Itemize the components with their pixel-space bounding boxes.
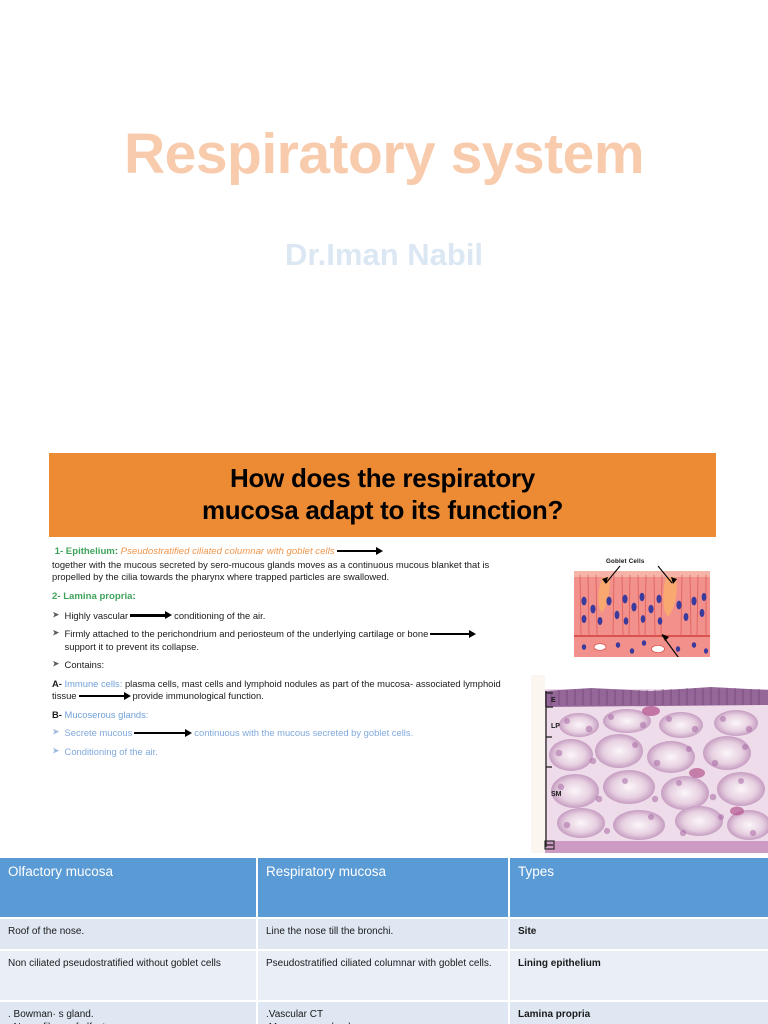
bullet-4-body: Secrete mucouscontinuous with the mucous… [65,727,504,740]
cell-type-lamina: Lamina propria [510,1002,768,1024]
cell-olfactory-site: Roof of the nose. [0,919,258,949]
respiratory-mucosa-micrograph: E LP SM [531,675,768,853]
list-item: ➤ Contains: [52,659,504,672]
arrowhead-bullet-icon: ➤ [52,628,60,640]
arrowhead-bullet-icon: ➤ [52,609,60,621]
arrow-icon [337,547,383,555]
epithelium-body-text: together with the mucous secreted by ser… [52,559,504,584]
table-row: Roof of the nose. Line the nose till the… [0,917,768,949]
list-item: ➤ Conditioning of the air. [52,746,504,759]
bullet-1-body: Highly vascularconditioning of the air. [65,610,504,623]
item-b-line: B- Mucoserous glands: [52,709,504,722]
list-item: ➤ Highly vascularconditioning of the air… [52,610,504,623]
bullet-4-pre: Secrete mucous [65,727,133,738]
bullet-2-body: Firmly attached to the perichondrium and… [65,628,504,653]
item-a-body-post: provide immunological function. [133,690,264,701]
micrograph-image [531,675,768,853]
arrow-icon [130,611,172,619]
table-header-row: Olfactory mucosa Respiratory mucosa Type… [0,858,768,917]
item-a-line: A- Immune cells: plasma cells, mast cell… [52,678,504,703]
table-row: . Bowman· s gland. . Nerve fibers of olf… [0,1000,768,1024]
item-a-prefix: A- [52,678,62,689]
bullet-4-post: continuous with the mucous secreted by g… [194,727,413,738]
goblet-cells-diagram: Goblet Cells [566,557,720,669]
table-header-respiratory: Respiratory mucosa [258,858,510,917]
page-subtitle: Dr.Iman Nabil [0,237,768,273]
bullet-2-post: support it to prevent its collapse. [65,641,199,652]
epithelium-colon: : [115,546,118,557]
epithelium-label: 1- Epithelium [55,546,115,557]
arrowhead-bullet-icon: ➤ [52,727,60,739]
lamina-propria-label: 2- Lamina propria [52,591,133,602]
cell-respiratory-epithelium: Pseudostratified ciliated columnar with … [258,951,510,1000]
lamina-propria-colon: : [133,591,136,602]
arrow-icon [79,692,131,700]
question-line-2: mucosa adapt to its function? [202,495,563,525]
arrowhead-bullet-icon: ➤ [52,659,60,671]
bullet-5-body: Conditioning of the air. [65,746,504,759]
slide-body-text: 1- Epithelium: Pseudostratified ciliated… [52,545,504,758]
item-a-blue-label: Immune cells: [65,678,123,689]
list-item: ➤ Secrete mucouscontinuous with the muco… [52,727,504,740]
micrograph-label-sm: SM [551,791,562,798]
goblet-cells-illustration [566,557,720,669]
bullet-2-pre: Firmly attached to the perichondrium and… [65,628,429,639]
question-banner: How does the respiratory mucosa adapt to… [49,453,716,537]
table-header-olfactory: Olfactory mucosa [0,858,258,917]
arrow-icon [430,630,476,638]
epithelium-italic-text: Pseudostratified ciliated columnar with … [121,546,335,557]
cell-type-epithelium: Lining epithelium [510,951,768,1000]
arrow-icon [134,729,192,737]
title-block: Respiratory system Dr.Iman Nabil [0,125,768,273]
embedded-slide-image: How does the respiratory mucosa adapt to… [0,453,768,853]
cell-olfactory-lamina: . Bowman· s gland. . Nerve fibers of olf… [0,1002,258,1024]
micrograph-label-lp: LP [551,723,560,730]
item-b-prefix: B- [52,709,62,720]
item-b-blue-label: Mucoserous glands: [65,709,149,720]
cell-type-site: Site [510,919,768,949]
list-item: ➤ Firmly attached to the perichondrium a… [52,628,504,653]
page-title: Respiratory system [0,125,768,185]
bullet-3-body: Contains: [65,659,504,672]
micrograph-label-e: E [551,697,556,704]
table-header-types: Types [510,858,768,917]
bullet-1-pre: Highly vascular [65,610,129,621]
comparison-table: Olfactory mucosa Respiratory mucosa Type… [0,858,768,1024]
lamina-propria-heading-line: 2- Lamina propria: [52,590,504,604]
cell-respiratory-lamina: .Vascular CT .Mucoserous glands. [258,1002,510,1024]
cell-olfactory-epithelium: Non ciliated pseudostratified without go… [0,951,258,1000]
arrowhead-bullet-icon: ➤ [52,745,60,757]
cell-respiratory-site: Line the nose till the bronchi. [258,919,510,949]
table-row: Non ciliated pseudostratified without go… [0,949,768,1000]
epithelium-heading-line: 1- Epithelium: Pseudostratified ciliated… [52,545,504,559]
question-banner-text: How does the respiratory mucosa adapt to… [196,463,569,526]
goblet-cells-diagram-label: Goblet Cells [606,558,645,565]
question-line-1: How does the respiratory [230,463,535,493]
bullet-1-post: conditioning of the air. [174,610,265,621]
